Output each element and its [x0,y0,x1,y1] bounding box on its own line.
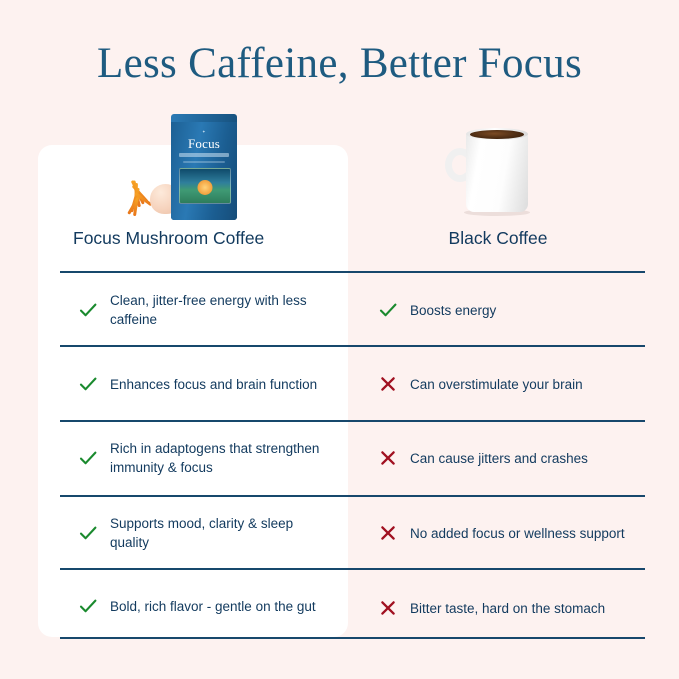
feature-row-4-right: No added focus or wellness support [378,511,643,555]
divider-row-4 [60,568,645,570]
cross-icon [378,374,398,394]
product-image-black-coffee [348,110,648,228]
feature-text: Supports mood, clarity & sleep quality [110,514,328,552]
feature-text: Enhances focus and brain function [110,375,317,394]
cross-icon [378,448,398,468]
comparison-table: ✦ Focus Focus Mushroom [0,0,679,679]
feature-row-5-right: Bitter taste, hard on the stomach [378,596,643,620]
check-icon [78,374,98,394]
feature-text: Clean, jitter-free energy with less caff… [110,291,328,329]
cross-icon [378,598,398,618]
feature-row-2-right: Can overstimulate your brain [378,372,643,396]
check-icon [378,300,398,320]
feature-text: Bitter taste, hard on the stomach [410,599,605,618]
feature-row-1-left: Clean, jitter-free energy with less caff… [78,288,328,332]
column-header-focus-mushroom-coffee: Focus Mushroom Coffee [73,228,264,249]
feature-text: Can cause jitters and crashes [410,449,588,468]
pouch-logo-mark: ✦ [171,129,237,134]
feature-text: Rich in adaptogens that strengthen immun… [110,439,328,477]
divider-row-1 [60,345,645,347]
feature-row-5-left: Bold, rich flavor - gentle on the gut [78,584,328,628]
feature-text: Boosts energy [410,301,496,320]
column-header-black-coffee: Black Coffee [348,228,648,249]
check-icon [78,300,98,320]
feature-row-1-right: Boosts energy [378,298,643,322]
product-image-row: ✦ Focus [0,110,679,228]
column-header-row: Focus Mushroom Coffee Black Coffee [0,228,679,262]
coffee-pouch-icon: ✦ Focus [118,112,268,228]
feature-row-2-left: Enhances focus and brain function [78,362,328,406]
feature-row-3-left: Rich in adaptogens that strengthen immun… [78,436,328,480]
divider-row-3 [60,495,645,497]
feature-text: Bold, rich flavor - gentle on the gut [110,597,316,616]
divider-row-5 [60,637,645,639]
coffee-mug-icon [438,120,558,224]
cross-icon [378,523,398,543]
pouch-brand-label: Focus [171,136,237,152]
pouch-sunset-artwork [179,168,231,204]
feature-text: No added focus or wellness support [410,524,625,543]
check-icon [78,448,98,468]
feature-row-4-left: Supports mood, clarity & sleep quality [78,511,328,555]
divider-row-2 [60,420,645,422]
divider-header [60,271,645,273]
feature-text: Can overstimulate your brain [410,375,583,394]
product-image-focus-coffee: ✦ Focus [38,110,348,228]
check-icon [78,596,98,616]
check-icon [78,523,98,543]
feature-row-3-right: Can cause jitters and crashes [378,446,643,470]
